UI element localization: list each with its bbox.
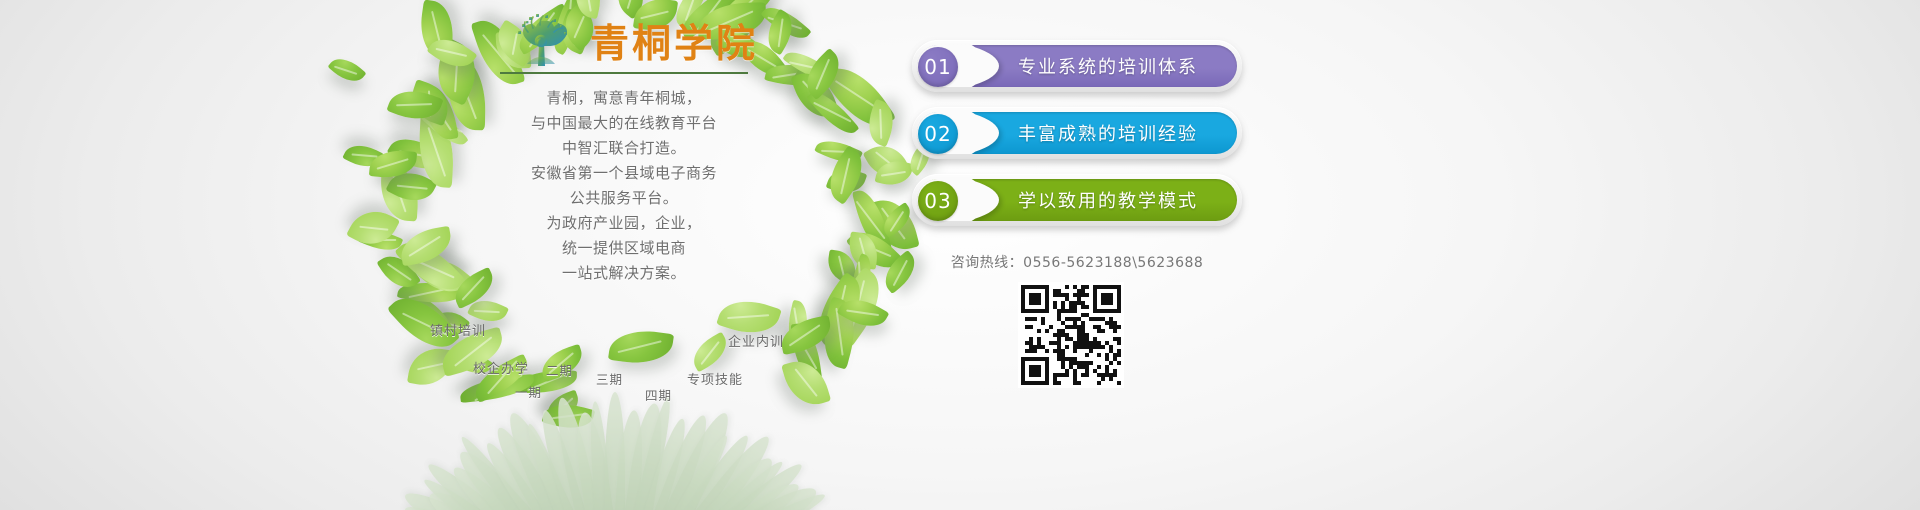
brand-title: 青桐学院	[590, 25, 758, 68]
brand-description-line: 统一提供区域电商	[500, 236, 748, 261]
logo-row: 青桐学院	[500, 6, 760, 68]
caption-6: 三期	[596, 369, 623, 388]
badge-number: 01	[918, 47, 958, 87]
leaf-shape	[608, 326, 674, 368]
feature-badge-02[interactable]: 丰富成熟的培训经验02	[912, 107, 1242, 159]
brand-block: 青桐学院 青桐，寓意青年桐城，与中国最大的在线教育平台中智汇联合打造。安徽省第一…	[500, 6, 760, 286]
leaf-shape	[328, 51, 367, 88]
badge-number: 03	[918, 181, 958, 221]
caption-0: 镇村培训	[430, 320, 486, 339]
caption-5: 二期	[546, 360, 573, 379]
brand-description-line: 中智汇联合打造。	[500, 136, 748, 161]
feature-badge-01[interactable]: 专业系统的培训体系01	[912, 40, 1242, 92]
tree-icon	[500, 8, 582, 68]
badge-number: 02	[918, 114, 958, 154]
brand-description-line: 为政府产业园，企业，	[500, 211, 748, 236]
brand-description-line: 与中国最大的在线教育平台	[500, 111, 748, 136]
brand-description-line: 安徽省第一个县域电子商务	[500, 161, 748, 186]
caption-7: 四期	[645, 385, 672, 404]
badge-body: 丰富成熟的培训经验	[917, 112, 1237, 154]
brand-description: 青桐，寓意青年桐城，与中国最大的在线教育平台中智汇联合打造。安徽省第一个县域电子…	[500, 86, 748, 286]
leaf-shape	[687, 332, 734, 373]
brand-description-line: 公共服务平台。	[500, 186, 748, 211]
feature-badge-list: 专业系统的培训体系01丰富成熟的培训经验02学以致用的教学模式03	[912, 40, 1242, 241]
caption-4: 一期	[515, 382, 542, 401]
hotline-text: 咨询热线：0556-5623188\5623688	[912, 252, 1242, 272]
caption-1: 企业内训	[728, 331, 784, 350]
logo-divider	[500, 72, 748, 74]
feature-badge-03[interactable]: 学以致用的教学模式03	[912, 174, 1242, 226]
caption-3: 专项技能	[687, 369, 743, 388]
qr-code	[1018, 282, 1124, 388]
badge-body: 专业系统的培训体系	[917, 45, 1237, 87]
banner-stage: 青桐学院 青桐，寓意青年桐城，与中国最大的在线教育平台中智汇联合打造。安徽省第一…	[0, 0, 1920, 510]
badge-body: 学以致用的教学模式	[917, 179, 1237, 221]
caption-2: 校企办学	[473, 358, 529, 377]
leaf-shape	[781, 354, 831, 411]
brand-description-line: 青桐，寓意青年桐城，	[500, 86, 748, 111]
brand-description-line: 一站式解决方案。	[500, 261, 748, 286]
